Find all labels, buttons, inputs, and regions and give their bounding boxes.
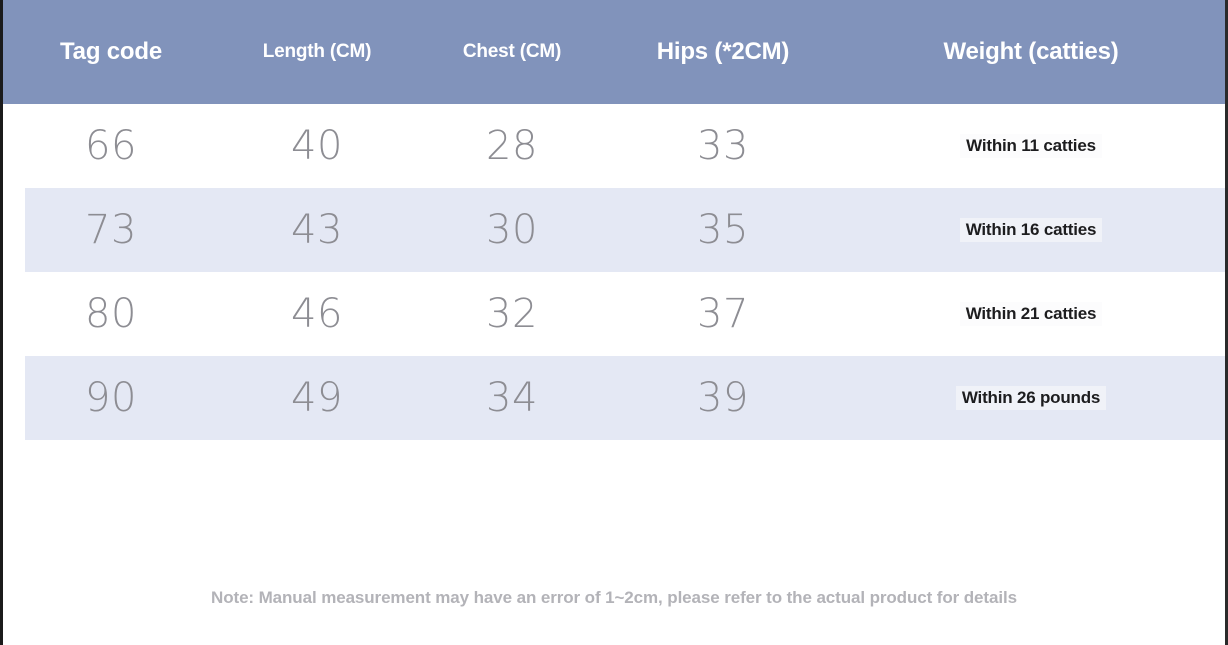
- table-row: 73 43 30 35 Within 16 catties: [0, 188, 1228, 272]
- left-edge-strip: [0, 0, 3, 645]
- cell-hips: 37: [612, 291, 834, 337]
- cell-weight-text: Within 21 catties: [960, 302, 1103, 326]
- cell-length: 46: [222, 291, 412, 337]
- cell-tag-code: 73: [0, 207, 222, 253]
- table-row: 66 40 28 33 Within 11 catties: [0, 104, 1228, 188]
- cell-tag-code: 90: [0, 375, 222, 421]
- cell-chest: 34: [412, 375, 612, 421]
- cell-length: 49: [222, 375, 412, 421]
- cell-length: 40: [222, 123, 412, 169]
- cell-length: 43: [222, 207, 412, 253]
- table-row: 90 49 34 39 Within 26 pounds: [0, 356, 1228, 440]
- cell-weight: Within 16 catties: [834, 218, 1228, 242]
- cell-weight-text: Within 16 catties: [960, 218, 1103, 242]
- cell-hips: 35: [612, 207, 834, 253]
- cell-hips: 39: [612, 375, 834, 421]
- cell-weight: Within 11 catties: [834, 134, 1228, 158]
- cell-hips: 33: [612, 123, 834, 169]
- table-header-row: Tag code Length (CM) Chest (CM) Hips (*2…: [0, 0, 1228, 104]
- table-row: 80 46 32 37 Within 21 catties: [0, 272, 1228, 356]
- cell-weight: Within 21 catties: [834, 302, 1228, 326]
- table-body: 66 40 28 33 Within 11 catties 73 43 30 3…: [0, 104, 1228, 440]
- measurement-disclaimer-note: Note: Manual measurement may have an err…: [0, 588, 1228, 608]
- size-chart-table: Tag code Length (CM) Chest (CM) Hips (*2…: [0, 0, 1228, 440]
- cell-weight-text: Within 11 catties: [960, 134, 1102, 158]
- cell-chest: 28: [412, 123, 612, 169]
- column-header-chest-cm: Chest (CM): [412, 41, 612, 63]
- cell-weight: Within 26 pounds: [834, 386, 1228, 410]
- column-header-weight-catties: Weight (catties): [834, 38, 1228, 66]
- column-header-tag-code: Tag code: [0, 38, 222, 66]
- cell-chest: 30: [412, 207, 612, 253]
- cell-tag-code: 66: [0, 123, 222, 169]
- cell-chest: 32: [412, 291, 612, 337]
- cell-tag-code: 80: [0, 291, 222, 337]
- cell-weight-text: Within 26 pounds: [956, 386, 1106, 410]
- column-header-hips-2cm: Hips (*2CM): [612, 38, 834, 66]
- column-header-length-cm: Length (CM): [222, 41, 412, 63]
